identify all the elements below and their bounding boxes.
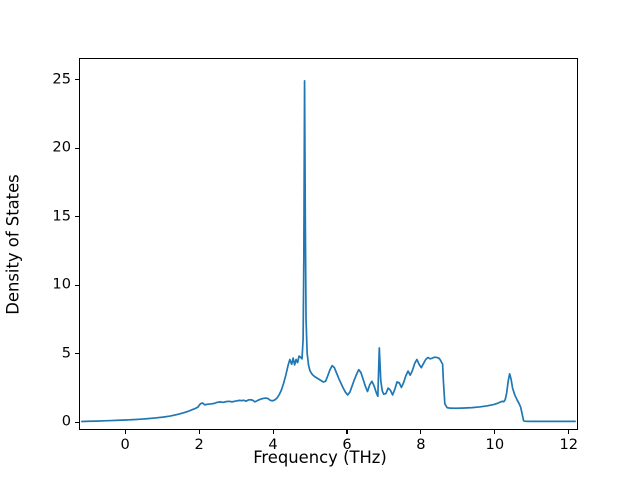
dos-curve [82, 81, 575, 422]
x-tick-mark [420, 430, 421, 434]
y-axis-label: Density of States [4, 174, 23, 314]
y-tick-mark [75, 148, 79, 149]
plot-axes [79, 58, 578, 430]
y-tick-mark [75, 285, 79, 286]
y-tick-mark [75, 216, 79, 217]
y-tick-mark [75, 79, 79, 80]
x-tick-mark [273, 430, 274, 434]
x-tick-mark [199, 430, 200, 434]
x-tick-mark [346, 430, 347, 434]
x-tick-mark [494, 430, 495, 434]
y-tick-label: 25 [33, 73, 71, 88]
phonon-dos-figure: Density of States 0246810120510152025 Fr… [0, 0, 640, 480]
dos-line-plot [80, 59, 577, 429]
y-tick-mark [75, 353, 79, 354]
y-tick-mark [75, 422, 79, 423]
y-tick-label: 5 [33, 347, 71, 362]
y-tick-label: 20 [33, 141, 71, 156]
x-tick-mark [568, 430, 569, 434]
y-tick-label: 15 [33, 210, 71, 225]
x-axis-label: Frequency (THz) [0, 448, 640, 467]
y-axis-label-container: Density of States [0, 58, 26, 430]
y-tick-label: 0 [33, 415, 71, 430]
x-tick-mark [125, 430, 126, 434]
y-tick-label: 10 [33, 278, 71, 293]
